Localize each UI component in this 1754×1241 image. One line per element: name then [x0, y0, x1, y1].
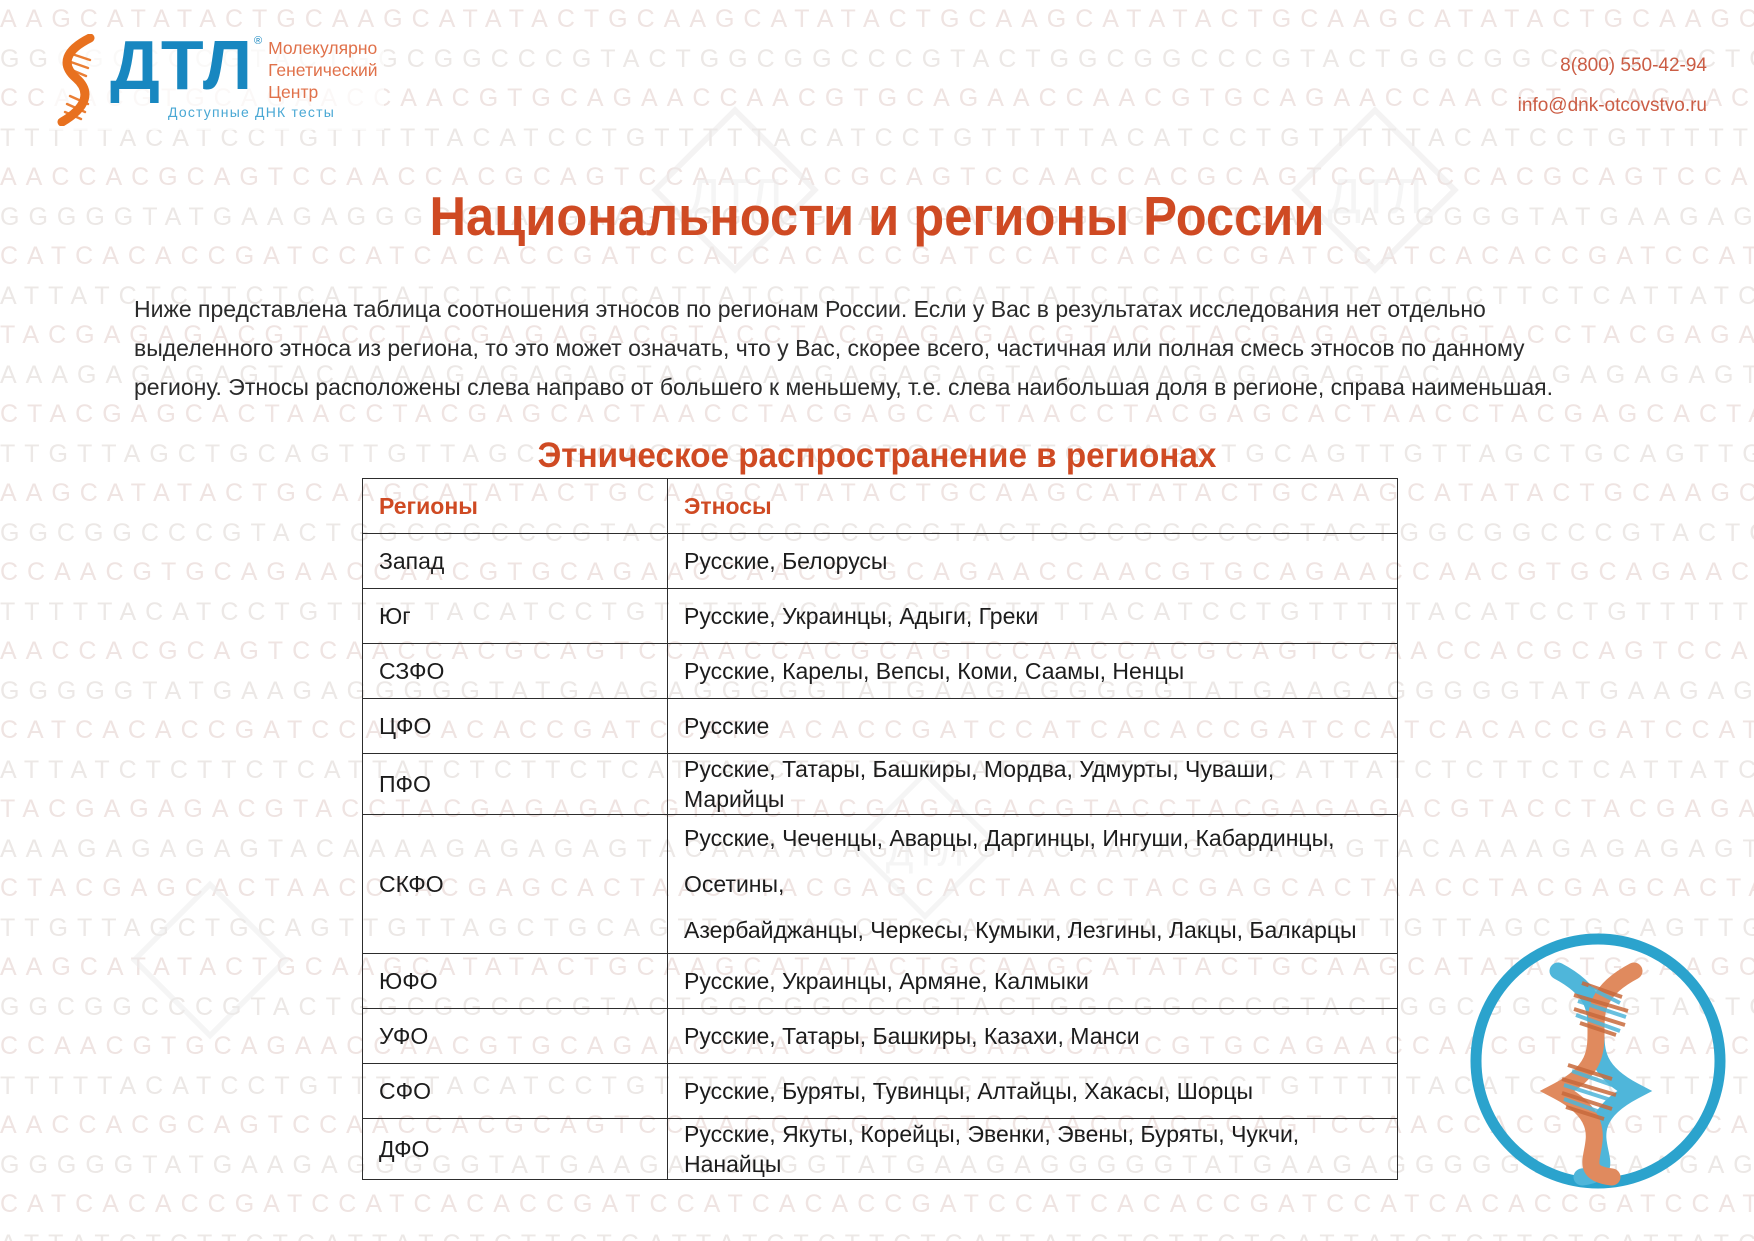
logo-text: ДТЛ ® Молекулярно Генетический Центр Дос…: [110, 30, 378, 120]
cell-region: ДФО: [363, 1119, 668, 1180]
table-row: ЗападРусские, Белорусы: [363, 534, 1398, 589]
cell-region: СЗФО: [363, 644, 668, 699]
company-logo[interactable]: ДТЛ ® Молекулярно Генетический Центр Дос…: [48, 28, 384, 130]
cell-ethnos-line-2: Азербайджанцы, Черкесы, Кумыки, Лезгины,…: [684, 907, 1381, 953]
column-header-regions: Регионы: [363, 479, 668, 534]
logo-main-line: ДТЛ ® Молекулярно Генетический Центр: [110, 30, 378, 103]
watermark-diagonal-lower-left: [120, 870, 300, 1050]
table-row: ДФОРусские, Якуты, Корейцы, Эвенки, Эвен…: [363, 1119, 1398, 1180]
table-row: ЮФОРусские, Украинцы, Армяне, Калмыки: [363, 954, 1398, 1009]
cell-region: ПФО: [363, 754, 668, 815]
logo-subtitle-line-1: Молекулярно: [268, 37, 377, 59]
cell-ethnos: Русские, Чеченцы, Аварцы, Даргинцы, Ингу…: [668, 815, 1398, 954]
intro-text: Ниже представлена таблица соотношения эт…: [134, 290, 1610, 407]
cell-ethnos: Русские, Белорусы: [668, 534, 1398, 589]
cell-ethnos: Русские, Буряты, Тувинцы, Алтайцы, Хакас…: [668, 1064, 1398, 1119]
section-title: Этническое распространение в регионах: [44, 435, 1710, 477]
cell-ethnos: Русские, Украинцы, Адыги, Греки: [668, 589, 1398, 644]
cell-ethnos: Русские, Украинцы, Армяне, Калмыки: [668, 954, 1398, 1009]
poster-page: AAGCATATACTGCAAGCATATACTGCAAGCATATACTGCA…: [0, 0, 1754, 1241]
table-row: СФОРусские, Буряты, Тувинцы, Алтайцы, Ха…: [363, 1064, 1398, 1119]
logo-tagline: Доступные ДНК тесты: [168, 104, 378, 120]
ethnic-distribution-table: Регионы Этносы ЗападРусские, БелорусыЮгР…: [362, 478, 1398, 1180]
table-row: ПФОРусские, Татары, Башкиры, Мордва, Удм…: [363, 754, 1398, 815]
cell-region: УФО: [363, 1009, 668, 1064]
phone-number[interactable]: 8(800) 550-42-94: [1518, 56, 1707, 75]
table-row: ЮгРусские, Украинцы, Адыги, Греки: [363, 589, 1398, 644]
cell-ethnos: Русские: [668, 699, 1398, 754]
table-row: СЗФОРусские, Карелы, Вепсы, Коми, Саамы,…: [363, 644, 1398, 699]
dna-sequence-row: ATTATCTCTTCTCATTATCTCTTCTCATTATCTCTTCTCA…: [0, 1225, 1754, 1241]
logo-wordmark: ДТЛ: [110, 30, 253, 100]
email-address[interactable]: info@dnk-otcovstvo.ru: [1518, 96, 1707, 115]
table-row: УФОРусские, Татары, Башкиры, Казахи, Ман…: [363, 1009, 1398, 1064]
cell-region: СКФО: [363, 815, 668, 954]
contact-info: 8(800) 550-42-94 info@dnk-otcovstvo.ru: [1518, 56, 1707, 115]
logo-subtitle: Молекулярно Генетический Центр: [268, 37, 377, 103]
cell-ethnos-line-1: Русские, Чеченцы, Аварцы, Даргинцы, Ингу…: [684, 815, 1381, 907]
cell-ethnos: Русские, Татары, Башкиры, Мордва, Удмурт…: [668, 754, 1398, 815]
cell-region: ЦФО: [363, 699, 668, 754]
cell-region: Юг: [363, 589, 668, 644]
cell-region: ЮФО: [363, 954, 668, 1009]
table-row: СКФОРусские, Чеченцы, Аварцы, Даргинцы, …: [363, 815, 1398, 954]
table-body: ЗападРусские, БелорусыЮгРусские, Украинц…: [363, 534, 1398, 1180]
cell-ethnos: Русские, Якуты, Корейцы, Эвенки, Эвены, …: [668, 1119, 1398, 1180]
table-row: ЦФОРусские: [363, 699, 1398, 754]
table-head: Регионы Этносы: [363, 479, 1398, 534]
dna-helix-logo-icon: [50, 34, 108, 126]
logo-subtitle-line-2: Генетический: [268, 59, 377, 81]
ethnic-distribution-table-wrapper: Регионы Этносы ЗападРусские, БелорусыЮгР…: [362, 478, 1397, 1180]
logo-subtitle-line-3: Центр: [268, 81, 377, 103]
column-header-ethnos: Этносы: [668, 479, 1398, 534]
page-header: ДТЛ ® Молекулярно Генетический Центр Дос…: [0, 0, 1754, 150]
cell-region: Запад: [363, 534, 668, 589]
cell-ethnos: Русские, Татары, Башкиры, Казахи, Манси: [668, 1009, 1398, 1064]
dna-helix-badge: [1462, 925, 1734, 1197]
table-header-row: Регионы Этносы: [363, 479, 1398, 534]
intro-paragraph: Ниже представлена таблица соотношения эт…: [134, 290, 1610, 407]
cell-region: СФО: [363, 1064, 668, 1119]
cell-ethnos: Русские, Карелы, Вепсы, Коми, Саамы, Нен…: [668, 644, 1398, 699]
trademark-icon: ®: [254, 36, 262, 47]
page-title: Национальности и регионы России: [70, 185, 1684, 247]
